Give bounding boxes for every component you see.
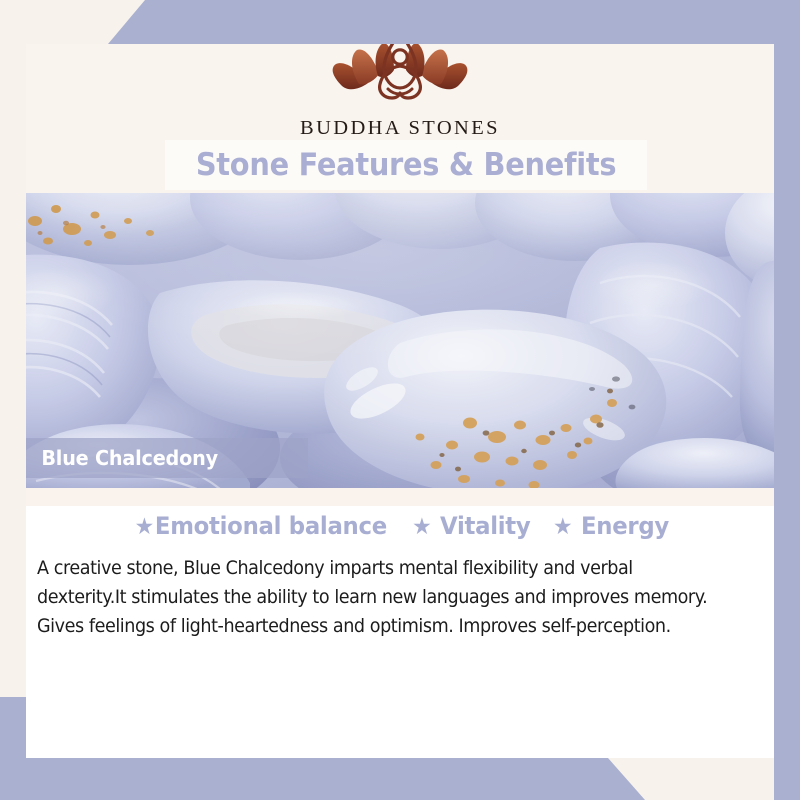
feature-list: ★Emotional balance ★ Vitality ★ Energy — [26, 512, 774, 540]
content-top-tint — [26, 488, 774, 506]
star-icon: ★ — [553, 514, 573, 540]
content-panel: ★Emotional balance ★ Vitality ★ Energy A… — [26, 488, 774, 758]
feature-label: Vitality — [441, 512, 531, 540]
title-banner: Stone Features & Benefits — [165, 140, 647, 190]
star-icon: ★ — [135, 514, 155, 540]
frame-right-border — [774, 0, 800, 800]
poster: BUDDHA STONES Stone Features & Benefits — [0, 0, 800, 800]
feature-item-emotional-balance: ★Emotional balance — [135, 512, 387, 540]
star-icon: ★ — [413, 514, 433, 540]
feature-label: Energy — [581, 512, 669, 540]
feature-label: Emotional balance — [155, 512, 387, 540]
page-title: Stone Features & Benefits — [196, 147, 616, 183]
stone-name-text: Blue Chalcedony — [26, 446, 218, 470]
stone-photo: Blue Chalcedony — [0, 193, 800, 488]
frame-bottom-border — [0, 758, 800, 800]
brand-name: BUDDHA STONES — [300, 117, 500, 140]
brand-header: BUDDHA STONES — [26, 44, 774, 149]
stone-name-label: Blue Chalcedony — [26, 438, 308, 478]
frame-left-mask — [0, 0, 26, 697]
feature-item-energy: ★ Energy — [553, 512, 669, 540]
description-text: A creative stone, Blue Chalcedony impart… — [37, 554, 723, 641]
frame-top-border — [0, 0, 800, 44]
feature-item-vitality: ★ Vitality — [413, 512, 531, 540]
